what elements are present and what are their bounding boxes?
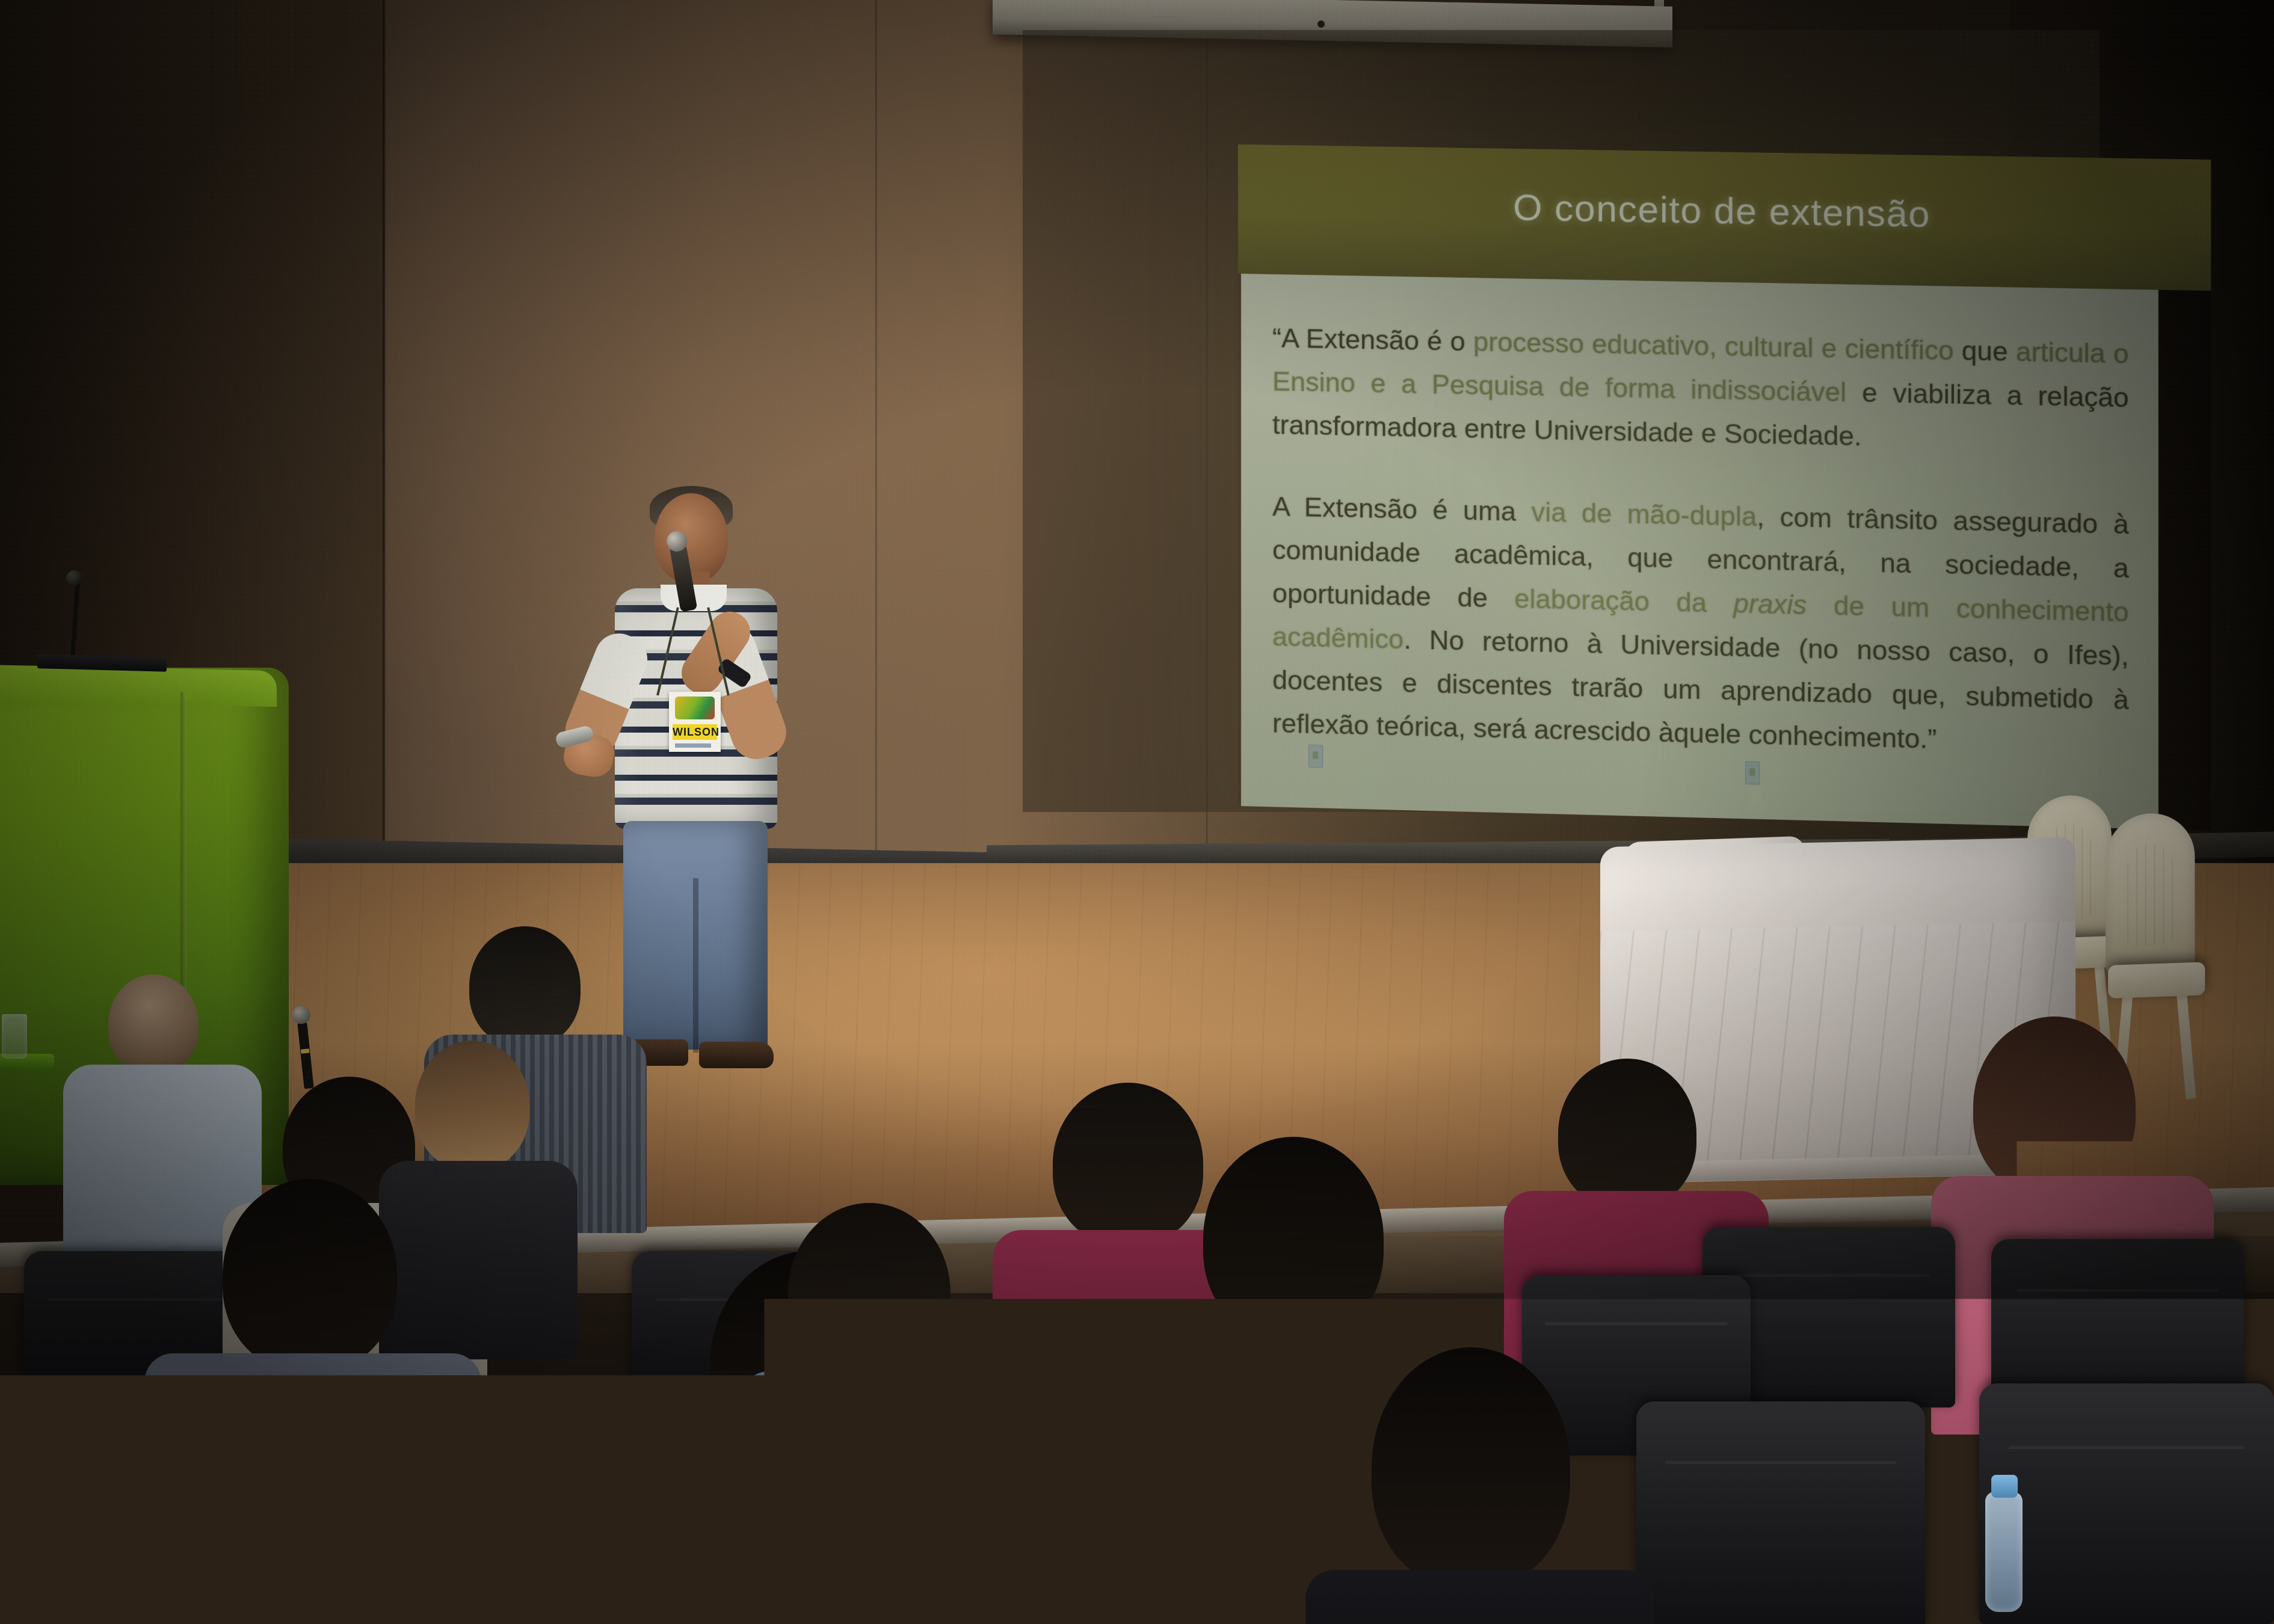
slide-body-text: “A Extensão é o processo educativo, cult… [1272,316,2129,805]
event-logo-icon [675,697,715,719]
name-badge: WILSON [669,692,721,752]
presenter-shoe [699,1042,774,1068]
chair-back-slots [2127,842,2173,946]
person-head [1558,1059,1696,1209]
person-head [415,1041,529,1170]
slide-body-panel: “A Extensão é o processo educativo, cult… [1241,274,2158,829]
person-head [1053,1083,1203,1245]
projected-slide: O conceito de extensão “A Extensão é o p… [1238,144,2211,831]
person-head [505,1377,716,1624]
slide-paragraph-1: “A Extensão é o processo educativo, cult… [1272,316,2129,464]
person-head [108,974,199,1074]
person-head [469,926,581,1047]
person-head [223,1179,397,1371]
presenter-head [655,493,728,583]
slide-header-band: O conceito de extensão [1238,144,2211,291]
person-body [379,1161,578,1359]
person-head [1372,1347,1570,1588]
slide-paragraph-2: A Extensão é uma via de mão-dupla, com t… [1272,485,2129,766]
person-body [740,1371,1053,1624]
drinking-glass-icon [2,1014,27,1059]
presenter: WILSON [565,493,830,1089]
person-body [1305,1570,1654,1624]
microphone-icon [66,570,82,586]
wall-outlet-icon [1745,761,1760,785]
badge-footer-mark [675,743,711,748]
person-body [144,1353,481,1624]
slide-title: O conceito de extensão [1238,182,2211,241]
pillar-edge-shadow [383,0,386,938]
auditorium-seat [1636,1401,1925,1624]
chair-back [2106,812,2195,974]
person-head [788,1203,951,1383]
presenter-leg-gap [693,878,698,1053]
person-head [1973,1017,2136,1197]
person-head [1203,1137,1384,1341]
wall-outlet-icon [1308,745,1323,768]
water-bottle-icon [1985,1492,2023,1612]
person-body [433,1606,800,1624]
screen-roller-knob [1317,20,1325,28]
auditorium-seat [1979,1383,2274,1624]
badge-name-text: WILSON [673,724,717,740]
presentation-photo-scene: O conceito de extensão “A Extensão é o p… [0,0,2274,1624]
bottle-cap-icon [1991,1475,2018,1498]
chair-seat [2108,962,2205,998]
wall-seam [875,0,878,914]
